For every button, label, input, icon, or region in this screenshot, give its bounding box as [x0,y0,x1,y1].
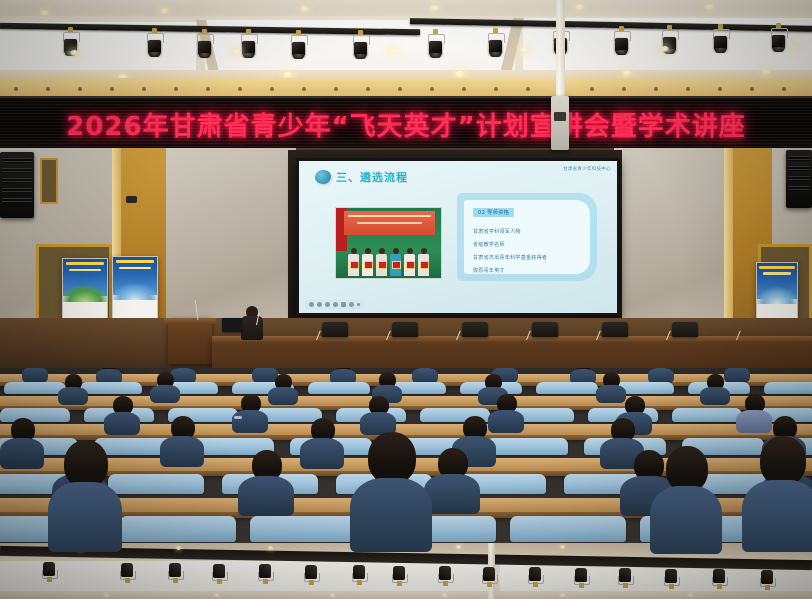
wall-niche [40,158,58,204]
presidium-chair [462,322,488,337]
audience-seat [536,382,598,394]
foreground-student [650,446,722,550]
photo-red-banner [344,211,434,235]
presidium-chair [532,322,558,337]
line-array-speaker [0,152,34,218]
wall-gold-band [0,78,812,98]
wall-marble-panel [614,148,732,338]
line-array-speaker [786,150,812,208]
audience-seat [510,516,626,542]
audience-seat [250,516,366,542]
presidium-chair [602,322,628,337]
slide-bullet-1: 甘肃省学科领军人物 [473,228,521,235]
slide-view-icon[interactable] [341,302,346,307]
audience-student [700,374,730,404]
recessed-downlight [520,47,529,53]
audience-student [360,396,396,434]
audience-seat [120,516,236,542]
foreground-student [742,436,812,548]
audience-seat [486,438,568,455]
recessed-downlight [388,48,397,54]
audience-student [104,396,140,434]
audience-student [150,372,180,402]
slide-card-chip: 02 导师资格 [473,208,514,217]
more-icon[interactable] [357,303,360,306]
slide-photo [335,207,442,279]
pen-icon[interactable] [309,302,314,307]
audience-student [648,368,674,383]
ceiling-beam [0,0,812,16]
slide-bullet-2: 省级教学名师 [473,241,505,248]
audience-student [412,368,438,383]
recessed-downlight [232,49,241,55]
highlighter-icon[interactable] [325,302,330,307]
audience-seat [308,382,370,394]
wall-accent-strip [724,148,733,338]
auditorium-scene: 2026年甘肃省青少年“飞天英才”计划宣讲会暨学术讲座 三、遴选流程 [0,0,812,599]
audience-student [238,450,294,514]
slide-heading: 三、遴选流程 [336,169,408,185]
audience-student [232,394,268,432]
audience-student [0,418,44,468]
audience-student [58,374,88,404]
presidium-chair [322,322,348,337]
slide-bullet-3: 甘肃省杰出青年科学基金获得者 [473,254,547,261]
audience-seat [108,474,204,494]
slide-heading-group: 三、遴选流程 [315,169,408,185]
recessed-downlight [660,46,669,52]
presenter-toolbar[interactable] [305,300,364,309]
recessed-downlight [70,50,79,56]
audience-student [22,368,48,382]
slide-org-logo: 甘肃省青少年科技中心 [563,166,611,172]
wall-camera [126,196,137,203]
slide-card-inner: 02 导师资格 甘肃省学科领军人物 省级教学名师 甘肃省杰出青年科学基金获得者 … [464,200,590,274]
structural-column [556,0,565,96]
close-icon[interactable] [333,302,338,307]
zoom-icon[interactable] [349,302,354,307]
projection-screen[interactable]: 三、遴选流程 甘肃省青少年科技中心 02 导师资格 [296,158,620,316]
slide-content-card: 02 导师资格 甘肃省学科领军人物 省级教学名师 甘肃省杰出青年科学基金获得者 … [457,193,597,281]
audience-student [300,418,344,468]
audience-seat [80,382,142,394]
ceiling-projector [551,96,569,150]
foreground-student [48,440,122,548]
slide-bullet-4: 陇原青年英才 [473,267,505,274]
lectern [168,318,212,364]
audience-seat [4,382,66,394]
slide-surface: 三、遴选流程 甘肃省青少年科技中心 02 导师资格 [299,161,617,313]
recessed-downlight [790,45,799,51]
audience-seat [764,382,812,394]
presenter-person [240,306,264,338]
audience-seat [672,408,742,422]
presidium-chair [672,322,698,337]
audience-student [160,416,204,466]
foreground-student [350,432,432,548]
audience-student [268,374,298,404]
presidium-chair [392,322,418,337]
led-banner-display: 2026年甘肃省青少年“飞天英才”计划宣讲会暨学术讲座 [0,96,812,152]
pointer-icon[interactable] [317,302,322,307]
audience-student [424,448,480,512]
wall-marble-panel [166,148,296,338]
slide-bullet-icon [315,170,331,184]
led-banner-text: 2026年甘肃省青少年“飞天英才”计划宣讲会暨学术讲座 [0,98,812,150]
laptop [222,318,242,332]
